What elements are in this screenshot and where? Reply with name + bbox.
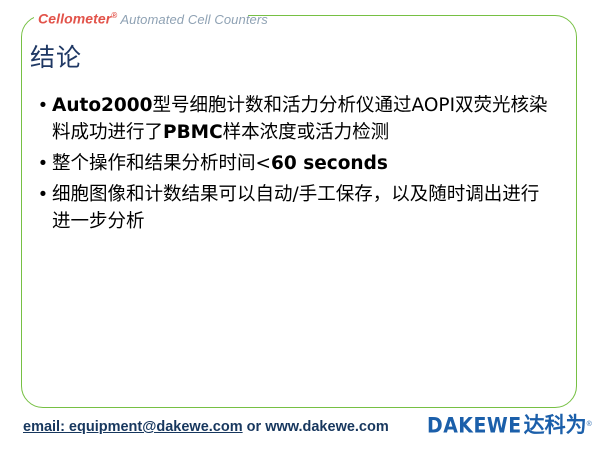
bullet-marker-icon: •	[34, 181, 52, 208]
cellometer-brand-header: Cellometer®Automated Cell Counters	[38, 7, 268, 25]
list-item: • 整个操作和结果分析时间<60 seconds	[34, 150, 554, 177]
slide-canvas: Cellometer®Automated Cell Counters 结论 • …	[0, 0, 600, 450]
brand-name-text: Cellometer	[38, 11, 111, 27]
registered-mark-icon: ®	[111, 11, 117, 20]
bullet-text-1: Auto2000型号细胞计数和活力分析仪通过AOPI双荧光核染料成功进行了PBM…	[52, 92, 554, 146]
bullet-text-2: 整个操作和结果分析时间<60 seconds	[52, 150, 554, 177]
logo-latin-text: DAKEWE	[427, 413, 522, 437]
bullet-1-seg-2: PBMC	[163, 122, 223, 143]
bullet-marker-icon: •	[34, 92, 52, 119]
logo-registered-mark-icon: ®	[587, 421, 592, 428]
bullet-2-seg-1: 60 seconds	[271, 153, 388, 174]
email-link[interactable]: email: equipment@dakewe.com	[23, 419, 243, 435]
brand-tagline-text: Automated Cell Counters	[120, 12, 268, 27]
bullet-text-3: 细胞图像和计数结果可以自动/手工保存，以及随时调出进行进一步分析	[52, 181, 554, 235]
bullet-marker-icon: •	[34, 150, 52, 177]
website-link[interactable]: www.dakewe.com	[265, 419, 389, 435]
bullet-list: • Auto2000型号细胞计数和活力分析仪通过AOPI双荧光核染料成功进行了P…	[34, 92, 554, 239]
bullet-1-seg-3: 样本浓度或活力检测	[223, 122, 390, 143]
bullet-2-seg-0: 整个操作和结果分析时间<	[52, 153, 271, 174]
logo-chinese-text: 达科为	[524, 413, 587, 437]
footer-contact: email: equipment@dakewe.com or www.dakew…	[23, 419, 389, 435]
footer-separator: or	[243, 419, 266, 435]
list-item: • 细胞图像和计数结果可以自动/手工保存，以及随时调出进行进一步分析	[34, 181, 554, 235]
bullet-1-seg-0: Auto2000	[52, 95, 153, 116]
page-title: 结论	[30, 38, 82, 74]
bullet-3-seg-0: 细胞图像和计数结果可以自动/手工保存，以及随时调出进行进一步分析	[52, 184, 539, 232]
list-item: • Auto2000型号细胞计数和活力分析仪通过AOPI双荧光核染料成功进行了P…	[34, 92, 554, 146]
dakewe-logo: DAKEWE达科为®	[427, 412, 592, 438]
